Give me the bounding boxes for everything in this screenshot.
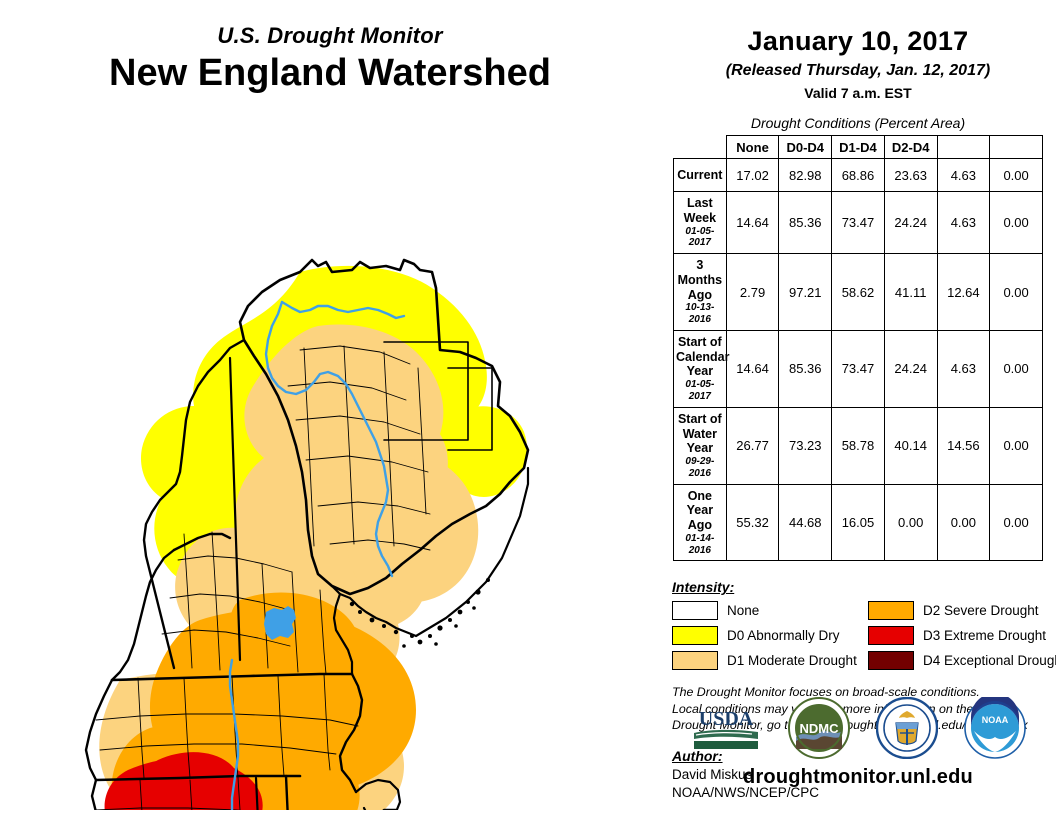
site-url[interactable]: droughtmonitor.unl.edu (660, 766, 1056, 789)
noaa-logo: NOAA (964, 697, 1026, 759)
legend-label: D3 Extreme Drought (923, 628, 1046, 643)
column-header-d4: D4 (990, 136, 1043, 159)
table-caption: Drought Conditions (Percent Area) (660, 115, 1056, 131)
table-cell-d4: 0.00 (990, 330, 1043, 407)
usda-logo: USDA (690, 705, 762, 751)
table-corner-cell (674, 136, 727, 159)
row-label: Current (674, 159, 727, 192)
legend-item: D2 Severe Drought (868, 601, 1056, 620)
table-row: Current17.0282.9868.8623.634.630.00 (674, 159, 1043, 192)
row-label: One Year Ago01-14-2016 (674, 484, 727, 561)
table-row: Start ofCalendar Year01-05-201714.6485.3… (674, 330, 1043, 407)
table-cell-d3-d4: 4.63 (937, 330, 990, 407)
table-cell-none: 17.02 (726, 159, 779, 192)
page-supertitle: U.S. Drought Monitor (0, 24, 660, 48)
table-cell-d2-d4: 24.24 (884, 330, 937, 407)
table-header-row: None D0-D4 D1-D4 D2-D4 D3-D4 D4 (674, 136, 1043, 159)
drought-map[interactable] (0, 120, 660, 810)
row-label: Start ofWater Year09-29-2016 (674, 407, 727, 484)
map-svg (0, 120, 660, 810)
title-block: U.S. Drought Monitor New England Watersh… (0, 24, 660, 96)
ndmc-logo-text: NDMC (800, 721, 840, 736)
column-header-none: None (726, 136, 779, 159)
date-block: January 10, 2017 (Released Thursday, Jan… (660, 0, 1056, 101)
legend-item: D4 Exceptional Drought (868, 651, 1056, 670)
table-cell-d4: 0.00 (990, 407, 1043, 484)
row-label-date: 09-29-2016 (676, 456, 724, 480)
intensity-legend: Intensity: NoneD2 Severe DroughtD0 Abnor… (672, 579, 1052, 670)
row-label: Last Week01-05-2017 (674, 192, 727, 254)
legend-swatch-icon (672, 626, 718, 645)
legend-label: D4 Exceptional Drought (923, 653, 1056, 668)
row-label: Start ofCalendar Year01-05-2017 (674, 330, 727, 407)
table-cell-d1-d4: 73.47 (832, 330, 885, 407)
legend-item: D0 Abnormally Dry (672, 626, 868, 645)
table-cell-d1-d4: 58.62 (832, 254, 885, 331)
table-cell-d0-d4: 85.36 (779, 192, 832, 254)
logo-row: USDA NDMC (660, 690, 1056, 765)
table-cell-none: 2.79 (726, 254, 779, 331)
table-cell-none: 14.64 (726, 192, 779, 254)
commerce-seal-logo (876, 697, 938, 759)
report-date: January 10, 2017 (660, 26, 1056, 57)
legend-swatch-icon (868, 626, 914, 645)
row-label-date: 10-13-2016 (676, 302, 724, 326)
legend-label: D2 Severe Drought (923, 603, 1039, 618)
legend-grid: NoneD2 Severe DroughtD0 Abnormally DryD3… (672, 601, 1052, 670)
table-cell-d2-d4: 23.63 (884, 159, 937, 192)
table-cell-d0-d4: 82.98 (779, 159, 832, 192)
legend-swatch-icon (672, 601, 718, 620)
table-cell-d0-d4: 44.68 (779, 484, 832, 561)
table-cell-d4: 0.00 (990, 192, 1043, 254)
legend-swatch-icon (868, 651, 914, 670)
table-cell-d4: 0.00 (990, 254, 1043, 331)
legend-swatch-icon (868, 601, 914, 620)
legend-title: Intensity: (672, 579, 1052, 595)
table-cell-d4: 0.00 (990, 159, 1043, 192)
row-label: 3 Months Ago10-13-2016 (674, 254, 727, 331)
table-cell-d3-d4: 4.63 (937, 159, 990, 192)
legend-swatch-icon (672, 651, 718, 670)
table-body: Current17.0282.9868.8623.634.630.00Last … (674, 159, 1043, 561)
table-row: Last Week01-05-201714.6485.3673.4724.244… (674, 192, 1043, 254)
table-cell-none: 55.32 (726, 484, 779, 561)
column-header-d0-d4: D0-D4 (779, 136, 832, 159)
table-cell-d1-d4: 68.86 (832, 159, 885, 192)
column-header-d1-d4: D1-D4 (832, 136, 885, 159)
table-header: None D0-D4 D1-D4 D2-D4 D3-D4 D4 (674, 136, 1043, 159)
table-cell-none: 26.77 (726, 407, 779, 484)
noaa-logo-text: NOAA (982, 715, 1009, 725)
table-cell-d2-d4: 40.14 (884, 407, 937, 484)
table-cell-d0-d4: 73.23 (779, 407, 832, 484)
legend-item: D1 Moderate Drought (672, 651, 868, 670)
column-header-d2-d4: D2-D4 (884, 136, 937, 159)
table-cell-d3-d4: 4.63 (937, 192, 990, 254)
table-cell-d2-d4: 0.00 (884, 484, 937, 561)
legend-label: None (727, 603, 759, 618)
table-cell-none: 14.64 (726, 330, 779, 407)
ndmc-logo: NDMC (788, 697, 850, 759)
page-title: New England Watershed (0, 52, 660, 96)
table-cell-d0-d4: 97.21 (779, 254, 832, 331)
legend-item: None (672, 601, 868, 620)
legend-label: D0 Abnormally Dry (727, 628, 840, 643)
row-label-date: 01-05-2017 (676, 379, 724, 403)
row-label-date: 01-05-2017 (676, 226, 724, 250)
right-panel: January 10, 2017 (Released Thursday, Jan… (660, 0, 1056, 816)
table-cell-d2-d4: 41.11 (884, 254, 937, 331)
valid-time: Valid 7 a.m. EST (660, 85, 1056, 101)
column-header-d3-d4: D3-D4 (937, 136, 990, 159)
legend-label: D1 Moderate Drought (727, 653, 857, 668)
table-cell-d3-d4: 12.64 (937, 254, 990, 331)
table-cell-d3-d4: 0.00 (937, 484, 990, 561)
legend-item: D3 Extreme Drought (868, 626, 1056, 645)
table-cell-d2-d4: 24.24 (884, 192, 937, 254)
table-cell-d1-d4: 58.78 (832, 407, 885, 484)
row-label-date: 01-14-2016 (676, 533, 724, 557)
table-cell-d0-d4: 85.36 (779, 330, 832, 407)
table-cell-d1-d4: 16.05 (832, 484, 885, 561)
table-row: 3 Months Ago10-13-20162.7997.2158.6241.1… (674, 254, 1043, 331)
drought-conditions-table: None D0-D4 D1-D4 D2-D4 D3-D4 D4 Current1… (673, 135, 1043, 561)
usda-logo-text: USDA (699, 708, 754, 730)
table-cell-d1-d4: 73.47 (832, 192, 885, 254)
table-cell-d3-d4: 14.56 (937, 407, 990, 484)
release-date: (Released Thursday, Jan. 12, 2017) (660, 62, 1056, 80)
table-row: One Year Ago01-14-201655.3244.6816.050.0… (674, 484, 1043, 561)
table-cell-d4: 0.00 (990, 484, 1043, 561)
left-panel: U.S. Drought Monitor New England Watersh… (0, 0, 660, 816)
table-row: Start ofWater Year09-29-201626.7773.2358… (674, 407, 1043, 484)
